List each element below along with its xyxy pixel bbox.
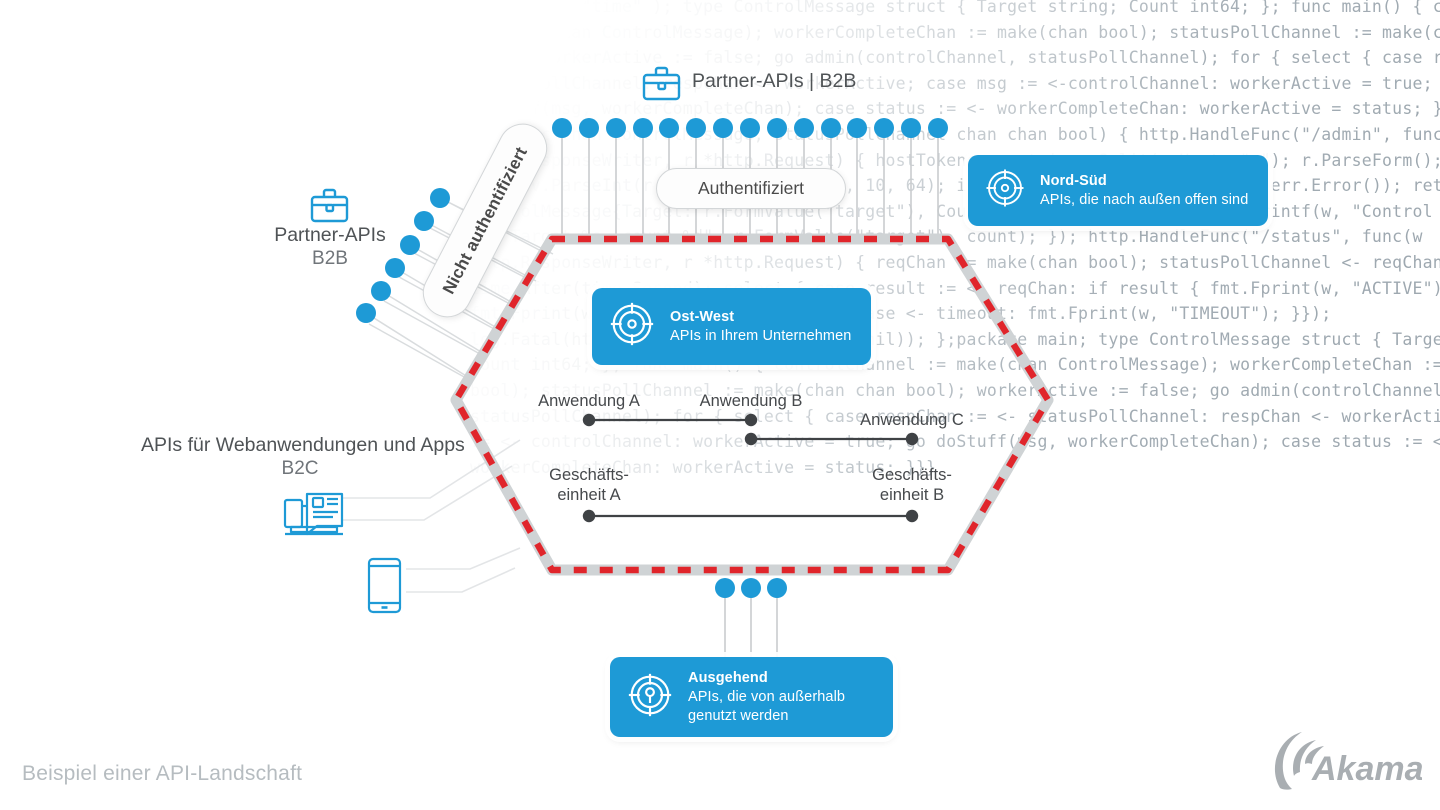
bottom-dot — [741, 578, 761, 598]
top-dot — [659, 118, 679, 138]
card-nord-sued-subtitle: APIs, die nach außen offen sind — [1040, 191, 1248, 209]
internal-node-dot — [745, 414, 757, 426]
internal-node-dot — [906, 510, 918, 522]
label-partner-apis-top: Partner-APIs | B2B — [692, 70, 856, 93]
briefcase-icon — [644, 68, 679, 99]
bottom-dot — [715, 578, 735, 598]
top-dot — [552, 118, 572, 138]
label-b2c: APIs für Webanwendungen und Apps B2C — [141, 434, 459, 480]
card-ausgehend-subtitle-line1: APIs, die von außerhalb — [688, 688, 845, 706]
akamai-logo-text: Akamai — [1311, 750, 1422, 788]
page-caption: Beispiel einer API-Landschaft — [22, 762, 302, 786]
card-ausgehend[interactable]: Ausgehend APIs, die von außerhalb genutz… — [610, 657, 893, 737]
top-dot — [901, 118, 921, 138]
internal-node-dot — [906, 433, 918, 445]
akamai-logo: Akamai — [1272, 728, 1422, 794]
top-dot — [686, 118, 706, 138]
bottom-dots-group — [715, 578, 787, 598]
top-dot — [874, 118, 894, 138]
briefcase-icon-left — [312, 190, 347, 221]
partner-left-dot — [430, 188, 450, 208]
diagram-canvas: "strings"; "time" ); type ControlMessage… — [0, 0, 1440, 810]
internal-node-label: Geschäfts-einheit B — [822, 465, 1002, 505]
card-ost-west[interactable]: Ost-West APIs in Ihrem Unternehmen — [592, 288, 871, 365]
internal-node-label: Anwendung A — [499, 391, 679, 411]
top-dot — [928, 118, 948, 138]
internal-node-label-line2: einheit A — [557, 486, 620, 504]
internal-node-dot — [745, 433, 757, 445]
internal-node-label: Anwendung C — [822, 410, 1002, 430]
top-dot — [740, 118, 760, 138]
mobile-phone-icon — [369, 559, 400, 612]
top-dot — [821, 118, 841, 138]
top-dot — [767, 118, 787, 138]
card-ausgehend-title: Ausgehend — [688, 669, 845, 687]
top-dot — [713, 118, 733, 138]
internal-node-dot — [583, 414, 595, 426]
card-ost-west-title: Ost-West — [670, 308, 851, 326]
card-ost-west-subtitle: APIs in Ihrem Unternehmen — [670, 327, 851, 345]
top-dot — [633, 118, 653, 138]
partner-left-dot — [414, 211, 434, 231]
internal-node-label-line1: Geschäfts- — [872, 466, 952, 484]
top-dot — [606, 118, 626, 138]
label-b2c-line2: B2C — [141, 458, 459, 480]
top-dots-group — [552, 118, 948, 138]
internal-node-label-line1: Geschäfts- — [549, 466, 629, 484]
top-dot — [847, 118, 867, 138]
label-b2c-line1: APIs für Webanwendungen und Apps — [141, 434, 465, 456]
crosshair-keyhole-icon — [626, 671, 674, 724]
crosshair-target-icon — [608, 300, 656, 353]
pill-authenticated[interactable]: Authentifiziert — [656, 168, 846, 209]
label-partner-apis-left-line2: B2B — [269, 248, 391, 270]
bottom-dot-stems — [725, 588, 777, 660]
internal-node-label: Geschäfts-einheit A — [499, 465, 679, 505]
card-nord-sued-title: Nord-Süd — [1040, 172, 1248, 190]
partner-left-dot — [371, 281, 391, 301]
internal-node-dot — [583, 510, 595, 522]
label-partner-apis-left-line1: Partner-APIs — [274, 224, 386, 246]
top-dot — [579, 118, 599, 138]
partner-left-dot — [400, 235, 420, 255]
crosshair-target-icon — [984, 167, 1026, 214]
internal-node-label: Anwendung B — [661, 391, 841, 411]
card-ausgehend-subtitle-line2: genutzt werden — [688, 707, 845, 725]
top-dot — [794, 118, 814, 138]
desktop-computer-icon — [285, 494, 343, 534]
bottom-dot — [767, 578, 787, 598]
label-partner-apis-left: Partner-APIs B2B — [269, 224, 391, 270]
partner-left-dot — [356, 303, 376, 323]
internal-node-label-line2: einheit B — [880, 486, 944, 504]
card-nord-sued[interactable]: Nord-Süd APIs, die nach außen offen sind — [968, 155, 1268, 226]
